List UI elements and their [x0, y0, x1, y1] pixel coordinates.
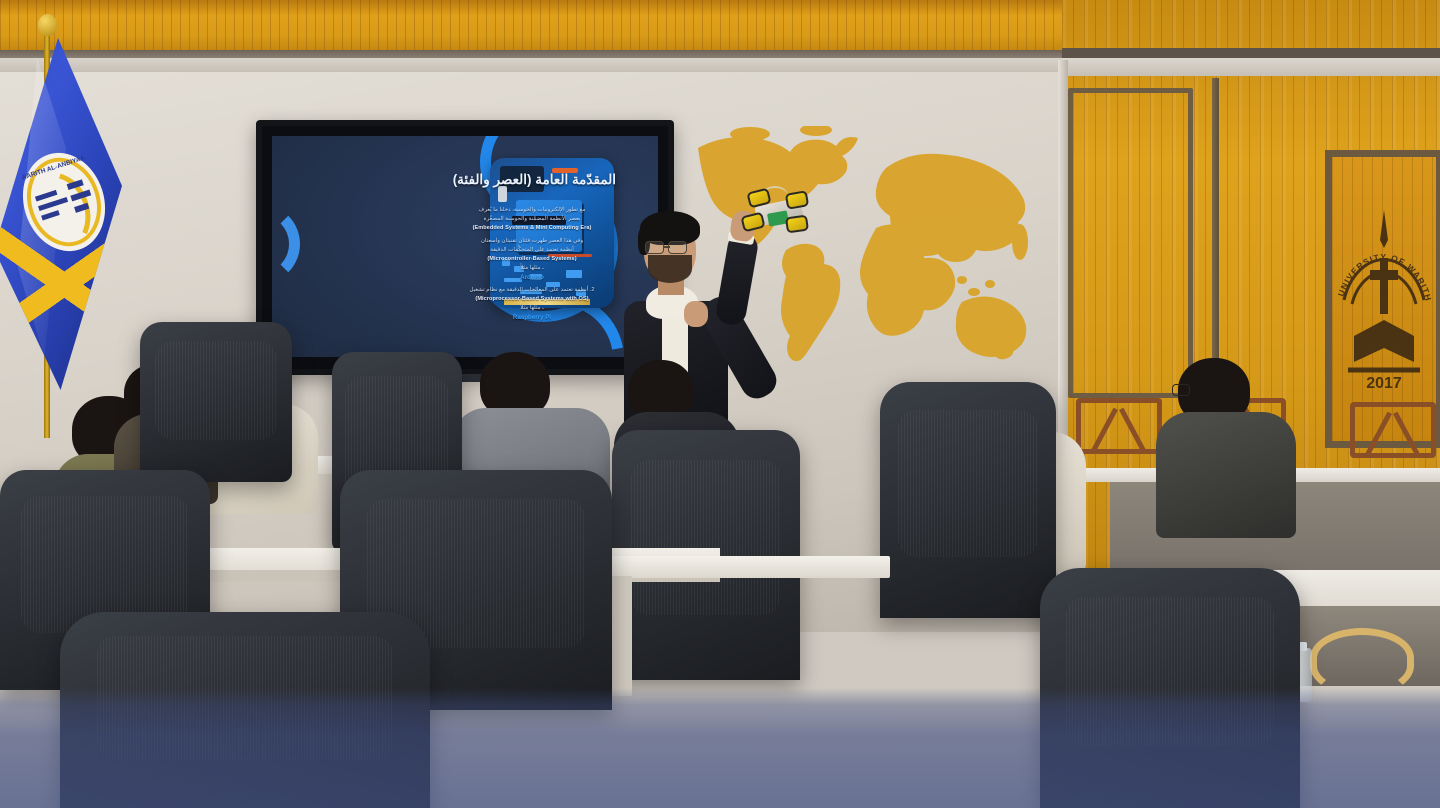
plaque-emblem-icon: 2017 UNIVERSITY OF WARITH AL-ANBIYAA: [1332, 157, 1436, 441]
eyeglasses: [645, 241, 664, 254]
office-chair: [140, 322, 292, 482]
screenshot-root: 2017 UNIVERSITY OF WARITH AL-ANBIYAA: [0, 0, 1440, 808]
robot-wheel: [785, 190, 809, 210]
robot-wheel: [740, 212, 765, 233]
desk-leg: [610, 576, 632, 696]
lecture-hall-scene: 2017 UNIVERSITY OF WARITH AL-ANBIYAA: [0, 0, 1440, 808]
flag-finial: [38, 14, 57, 36]
robot-car-prop: [740, 182, 818, 244]
eyeglasses: [1172, 384, 1190, 396]
audience-student-with-glasses: [1156, 358, 1286, 518]
svg-text:2017: 2017: [1366, 375, 1402, 392]
bottom-banner-overlay: جامعة وارث الأنبياءعليه السلام كلية علوم…: [0, 688, 1440, 808]
wood-panel-frame: [1068, 88, 1193, 398]
wicker-basket: [1310, 628, 1414, 696]
wood-wall-grey-trim: [1062, 58, 1440, 76]
slide-ring-decor: [272, 204, 300, 284]
eyeglasses: [668, 241, 687, 254]
office-chair: [880, 382, 1056, 618]
robot-wheel: [785, 215, 809, 234]
flag-emblem-icon: WARITH AL-ANBIYAA: [22, 148, 106, 256]
slide-title: المقدّمة العامة (العصر والفئة): [453, 172, 616, 188]
